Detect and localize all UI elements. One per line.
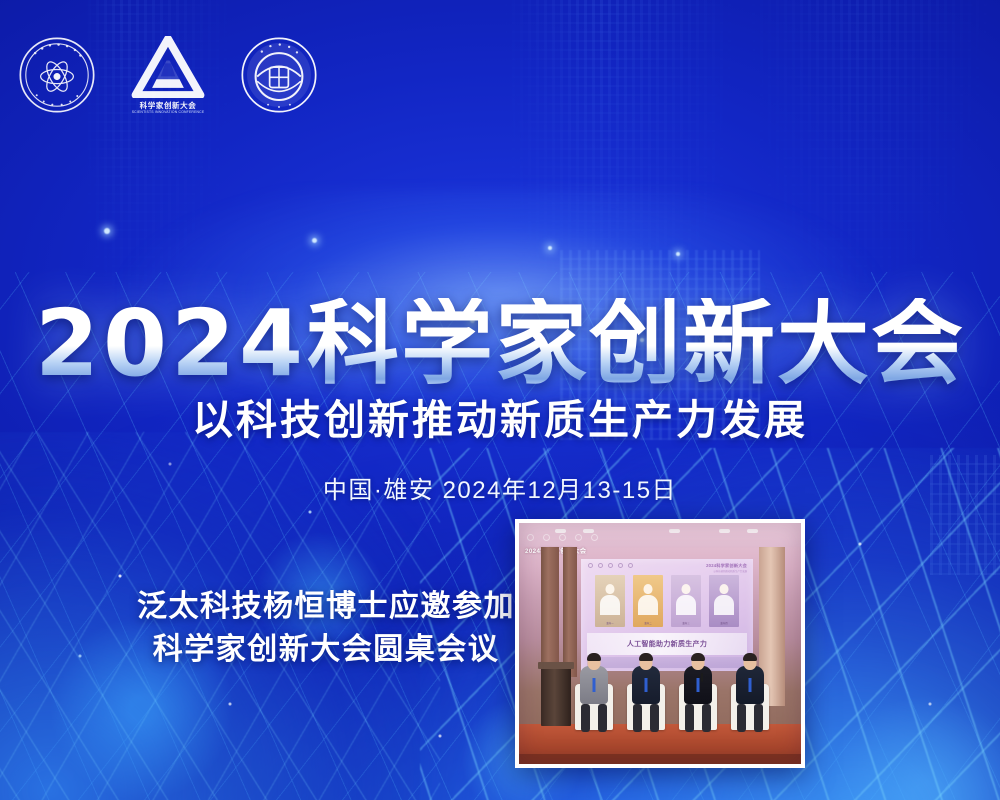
emblem-right-circular-icon bbox=[240, 36, 318, 114]
screen-icon-3 bbox=[608, 563, 613, 568]
page-title: 2024科学家创新大会 bbox=[0, 298, 1000, 390]
photo-wall-column bbox=[541, 547, 559, 677]
photo-wall-icon-row bbox=[527, 534, 598, 541]
emblem-center-triangle-icon: 科学家创新大会 SCIENTISTS INNOVATION CONFERENCE bbox=[122, 32, 214, 118]
screen-icon-row bbox=[588, 563, 633, 568]
panelist bbox=[675, 644, 721, 730]
caption-line-2: 科学家创新大会圆桌会议 bbox=[136, 629, 516, 672]
screen-icon-1 bbox=[588, 563, 593, 568]
spark-dot bbox=[548, 246, 552, 250]
speaker-portrait: 嘉宾一 bbox=[595, 575, 625, 627]
event-location-date: 中国·雄安 2024年12月13-15日 bbox=[0, 470, 1000, 505]
wall-icon-1 bbox=[527, 534, 534, 541]
page-title-year: 2024 bbox=[35, 290, 307, 397]
emblem-left-circular-icon bbox=[18, 36, 96, 114]
photo-podium bbox=[541, 666, 571, 726]
spark-dot bbox=[104, 228, 110, 234]
speaker-portrait-caption: 嘉宾一 bbox=[595, 622, 625, 625]
emblem-center-wordmark-sub: SCIENTISTS INNOVATION CONFERENCE bbox=[132, 110, 205, 114]
speaker-portrait: 嘉宾二 bbox=[633, 575, 663, 627]
photo-panelists bbox=[571, 642, 797, 730]
event-photo-frame: 2024科学家创新大会 2024科学家创新大会 以科技创新推动新质生产力发展 bbox=[515, 519, 805, 768]
event-photo: 2024科学家创新大会 2024科学家创新大会 以科技创新推动新质生产力发展 bbox=[519, 523, 801, 764]
speaker-portrait: 嘉宾三 bbox=[671, 575, 701, 627]
wall-icon-2 bbox=[543, 534, 550, 541]
spark-dot bbox=[676, 252, 680, 256]
panelist bbox=[571, 644, 617, 730]
panelist bbox=[727, 644, 773, 730]
microphone-icon bbox=[701, 673, 703, 682]
poster-canvas: 科学家创新大会 SCIENTISTS INNOVATION CONFERENCE bbox=[0, 0, 1000, 800]
screen-portrait-row: 嘉宾一 嘉宾二 嘉宾三 嘉宾四 bbox=[591, 575, 743, 627]
screen-icon-2 bbox=[598, 563, 603, 568]
subtitle: 以科技创新推动新质生产力发展 bbox=[0, 386, 1000, 446]
speaker-portrait-caption: 嘉宾二 bbox=[633, 622, 663, 625]
photo-stage-front bbox=[519, 754, 801, 764]
screen-icon-4 bbox=[618, 563, 623, 568]
caption-block: 泛太科技杨恒博士应邀参加 科学家创新大会圆桌会议 bbox=[136, 586, 516, 671]
emblem-center-wordmark: 科学家创新大会 bbox=[140, 101, 197, 110]
spark-dot bbox=[312, 238, 317, 243]
screen-icon-5 bbox=[628, 563, 633, 568]
caption-line-1: 泛太科技杨恒博士应邀参加 bbox=[137, 590, 515, 623]
logo-row: 科学家创新大会 SCIENTISTS INNOVATION CONFERENCE bbox=[18, 32, 318, 118]
panelist bbox=[623, 644, 669, 730]
speaker-portrait-caption: 嘉宾四 bbox=[709, 622, 739, 625]
screen-subtitle: 以科技创新推动新质生产力发展 bbox=[714, 569, 747, 573]
wall-icon-4 bbox=[575, 534, 582, 541]
speaker-portrait-caption: 嘉宾三 bbox=[671, 622, 701, 625]
speaker-portrait: 嘉宾四 bbox=[709, 575, 739, 627]
page-title-text: 科学家创新大会 bbox=[307, 293, 965, 395]
wall-icon-5 bbox=[591, 534, 598, 541]
wall-icon-3 bbox=[559, 534, 566, 541]
